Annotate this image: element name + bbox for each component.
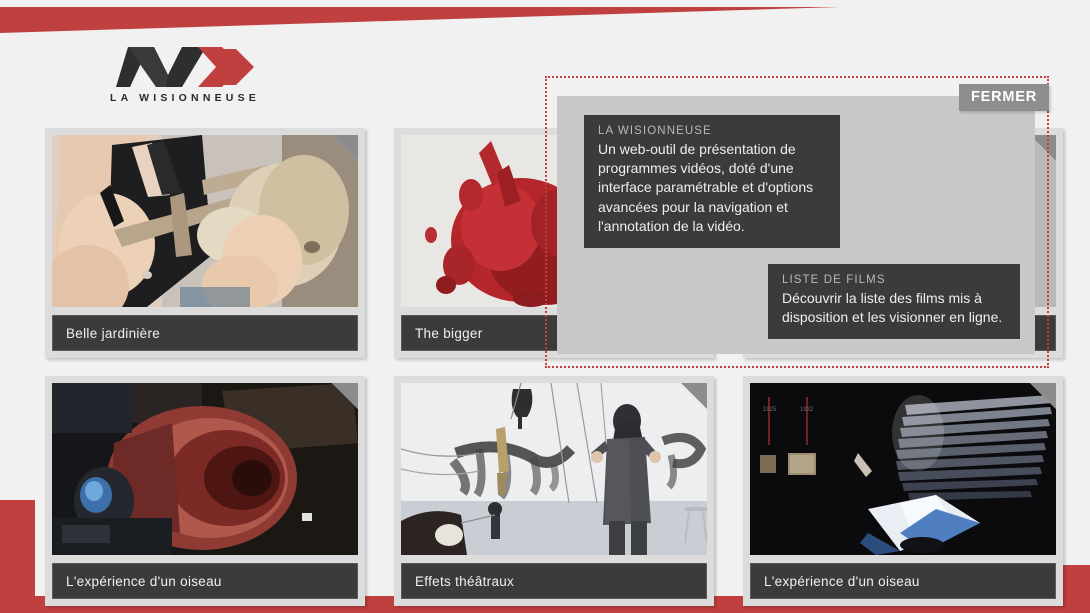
tooltip-liste-films: LISTE DE FILMS Découvrir la liste des fi… [768, 264, 1020, 339]
close-overlay-button[interactable]: FERMER [959, 84, 1049, 111]
card-fold-corner-icon [332, 383, 358, 409]
card-fold-corner-icon [1030, 383, 1056, 409]
video-thumbnail[interactable] [52, 135, 358, 307]
thumb-art-installation-strings [401, 383, 707, 555]
video-card[interactable]: L'expérience d'un oiseau [45, 376, 365, 606]
logo-wordmark: LA WISIONNEUSE [110, 92, 260, 104]
thumb-hands-measuring-bone [52, 135, 358, 307]
video-card[interactable]: Effets théâtraux [394, 376, 714, 606]
thumb-machine-tube-interior [52, 383, 358, 555]
video-title: Effets théâtraux [401, 563, 707, 599]
gallery-row-2: L'expérience d'un oiseau [45, 376, 1045, 606]
app-root: LA WISIONNEUSE [0, 0, 1090, 613]
video-card[interactable]: 1925 1932 [743, 376, 1063, 606]
decorative-red-bar-left [0, 500, 35, 596]
video-thumbnail[interactable]: 1925 1932 [750, 383, 1056, 555]
tooltip-body: Un web-outil de présentation de programm… [598, 140, 826, 236]
video-title: Belle jardinière [52, 315, 358, 351]
video-card[interactable]: Belle jardinière [45, 128, 365, 358]
svg-text:1925: 1925 [763, 407, 777, 413]
decorative-red-wedge-top [0, 7, 840, 33]
w-play-arrow-logo-icon [110, 45, 260, 89]
tooltip-title: LISTE DE FILMS [782, 274, 1006, 286]
thumb-dark-exhibit-projected-text: 1925 1932 [750, 383, 1056, 555]
svg-text:1932: 1932 [800, 407, 814, 413]
tooltip-body: Découvrir la liste des films mis à dispo… [782, 289, 1006, 327]
video-title: L'expérience d'un oiseau [52, 563, 358, 599]
video-thumbnail[interactable] [401, 383, 707, 555]
video-title: L'expérience d'un oiseau [750, 563, 1056, 599]
tooltip-title: LA WISIONNEUSE [598, 125, 826, 137]
tooltip-wisionneuse: LA WISIONNEUSE Un web-outil de présentat… [584, 115, 840, 248]
site-logo[interactable]: LA WISIONNEUSE [110, 45, 260, 107]
video-thumbnail[interactable] [52, 383, 358, 555]
help-overlay: FERMER LA WISIONNEUSE Un web-outil de pr… [545, 76, 1049, 368]
card-fold-corner-icon [681, 383, 707, 409]
card-fold-corner-icon [332, 135, 358, 161]
